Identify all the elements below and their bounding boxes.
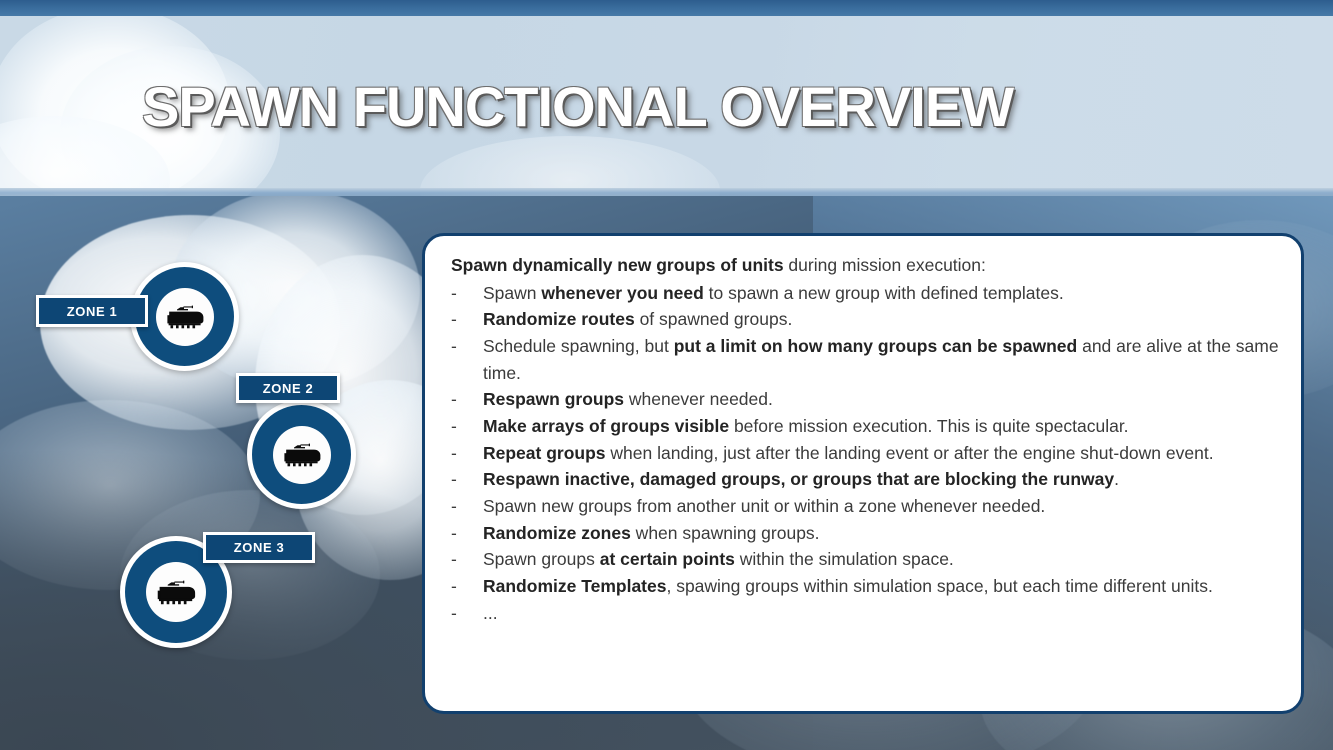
cloud-shape: [420, 136, 720, 196]
plain-text: to spawn a new group with defined templa…: [704, 283, 1064, 303]
armored-vehicle-icon: [154, 579, 198, 606]
bullet-marker: -: [451, 600, 457, 627]
bullet-marker: -: [451, 306, 457, 333]
armored-vehicle-icon: [281, 442, 323, 468]
plain-text: Schedule spawning, but: [483, 336, 674, 356]
feature-bullet-item: -Schedule spawning, but put a limit on h…: [439, 333, 1287, 386]
emphasis-text: Respawn inactive, damaged groups, or gro…: [483, 469, 1114, 489]
bullet-marker: -: [451, 386, 457, 413]
feature-bullet-item: -Spawn whenever you need to spawn a new …: [439, 280, 1287, 307]
feature-bullet-item: -Make arrays of groups visible before mi…: [439, 413, 1287, 440]
plain-text: Spawn groups: [483, 549, 600, 569]
plain-text: of spawned groups.: [635, 309, 793, 329]
zone-label-3[interactable]: ZONE 3: [203, 532, 315, 563]
feature-bullet-item: -Respawn groups whenever needed.: [439, 386, 1287, 413]
feature-list-card: Spawn dynamically new groups of units du…: [422, 233, 1304, 714]
zone-label-text: ZONE 2: [263, 381, 314, 396]
plain-text: .: [1114, 469, 1119, 489]
emphasis-text: Randomize routes: [483, 309, 635, 329]
feature-bullet-item: -Randomize Templates, spawing groups wit…: [439, 573, 1287, 600]
zone-marker-inner-disc: [273, 426, 331, 484]
plain-text: during mission execution:: [784, 255, 986, 275]
emphasis-text: put a limit on how many groups can be sp…: [674, 336, 1078, 356]
plain-text: before mission execution. This is quite …: [729, 416, 1128, 436]
zone-label-text: ZONE 1: [67, 304, 118, 319]
zone-marker-inner-disc: [156, 288, 214, 346]
armored-vehicle-icon: [164, 304, 206, 330]
zone-marker-2[interactable]: [247, 400, 356, 509]
bullet-marker: -: [451, 573, 457, 600]
emphasis-text: Make arrays of groups visible: [483, 416, 729, 436]
emphasis-text: Spawn dynamically new groups of units: [451, 255, 784, 275]
page-title: SPAWN FUNCTIONAL OVERVIEW: [142, 78, 1013, 137]
emphasis-text: Repeat groups: [483, 443, 606, 463]
zone-marker-inner-disc: [146, 562, 206, 622]
feature-bullet-item: -Respawn inactive, damaged groups, or gr…: [439, 466, 1287, 493]
zone-label-text: ZONE 3: [234, 540, 285, 555]
bullet-marker: -: [451, 440, 457, 467]
emphasis-text: Randomize Templates: [483, 576, 666, 596]
plain-text: Spawn new groups from another unit or wi…: [483, 496, 1045, 516]
emphasis-text: Randomize zones: [483, 523, 631, 543]
bullet-marker: -: [451, 333, 457, 360]
feature-bullet-list: -Spawn whenever you need to spawn a new …: [439, 280, 1287, 627]
bullet-marker: -: [451, 413, 457, 440]
top-accent-strip: [0, 0, 1333, 16]
bullet-marker: -: [451, 280, 457, 307]
card-intro-text: Spawn dynamically new groups of units du…: [439, 252, 1287, 279]
plain-text: Spawn: [483, 283, 541, 303]
feature-bullet-item: -Spawn groups at certain points within t…: [439, 546, 1287, 573]
emphasis-text: whenever you need: [541, 283, 703, 303]
feature-bullet-item: -Randomize zones when spawning groups.: [439, 520, 1287, 547]
plain-text: ...: [483, 603, 498, 623]
slide-canvas: SPAWN FUNCTIONAL OVERVIEW: [0, 0, 1333, 750]
feature-bullet-item: -Randomize routes of spawned groups.: [439, 306, 1287, 333]
bullet-marker: -: [451, 520, 457, 547]
feature-bullet-item: -Spawn new groups from another unit or w…: [439, 493, 1287, 520]
bullet-marker: -: [451, 493, 457, 520]
feature-bullet-item: -Repeat groups when landing, just after …: [439, 440, 1287, 467]
emphasis-text: Respawn groups: [483, 389, 624, 409]
bullet-marker: -: [451, 546, 457, 573]
plain-text: when landing, just after the landing eve…: [606, 443, 1214, 463]
plain-text: whenever needed.: [624, 389, 773, 409]
bullet-marker: -: [451, 466, 457, 493]
plain-text: when spawning groups.: [631, 523, 820, 543]
header-banner-edge: [0, 188, 1333, 196]
emphasis-text: at certain points: [600, 549, 735, 569]
zone-label-2[interactable]: ZONE 2: [236, 373, 340, 403]
plain-text: within the simulation space.: [735, 549, 954, 569]
plain-text: , spawing groups within simulation space…: [666, 576, 1212, 596]
feature-bullet-item: -...: [439, 600, 1287, 627]
zone-label-1[interactable]: ZONE 1: [36, 295, 148, 327]
